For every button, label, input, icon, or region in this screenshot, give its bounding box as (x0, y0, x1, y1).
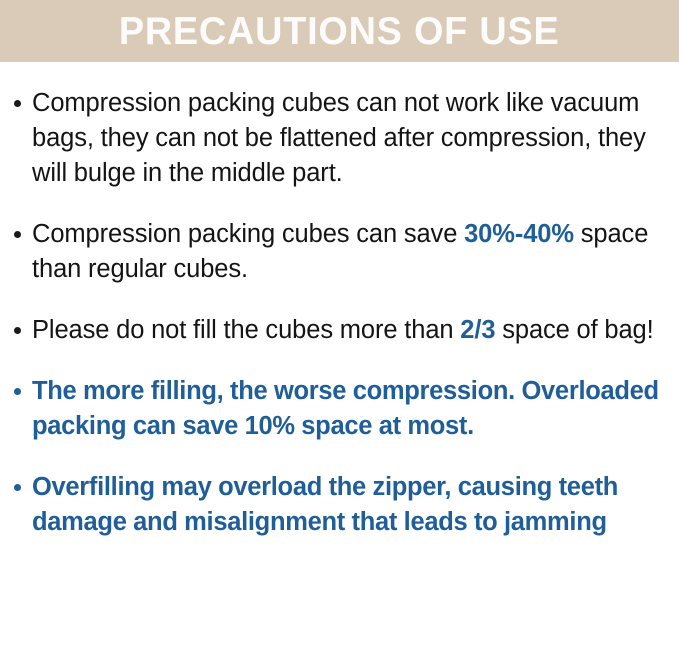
precautions-infographic: PRECAUTIONS OF USE Compression packing c… (0, 0, 679, 645)
list-item-text: Please do not fill the cubes more than 2… (32, 313, 667, 348)
list-item-text: Compression packing cubes can not work l… (32, 86, 667, 191)
bullet-dot-icon (14, 327, 32, 334)
list-item-text: The more filling, the worse compression.… (32, 374, 667, 444)
bullet-dot-icon (14, 388, 32, 395)
bullet-dot-icon (14, 100, 32, 107)
text-run: Please do not fill the cubes more than (32, 316, 460, 344)
list-item: Compression packing cubes can save 30%-4… (14, 217, 667, 287)
list-item: The more filling, the worse compression.… (14, 374, 667, 444)
highlighted-value: 2/3 (460, 316, 495, 344)
list-item-text: Overfilling may overload the zipper, cau… (32, 470, 667, 540)
text-run: space of bag! (495, 316, 653, 344)
highlighted-value: 30%-40% (464, 220, 574, 248)
text-run: Compression packing cubes can save (32, 220, 464, 248)
list-item: Compression packing cubes can not work l… (14, 86, 667, 191)
header-band: PRECAUTIONS OF USE (0, 0, 679, 62)
list-item: Please do not fill the cubes more than 2… (14, 313, 667, 348)
text-run: The more filling, the worse compression.… (32, 377, 659, 440)
text-run: Overfilling may overload the zipper, cau… (32, 473, 618, 536)
bullet-dot-icon (14, 484, 32, 491)
list-item: Overfilling may overload the zipper, cau… (14, 470, 667, 540)
bullet-dot-icon (14, 231, 32, 238)
list-item-text: Compression packing cubes can save 30%-4… (32, 217, 667, 287)
precautions-list: Compression packing cubes can not work l… (0, 62, 679, 540)
page-title: PRECAUTIONS OF USE (119, 12, 560, 51)
text-run: Compression packing cubes can not work l… (32, 89, 646, 187)
